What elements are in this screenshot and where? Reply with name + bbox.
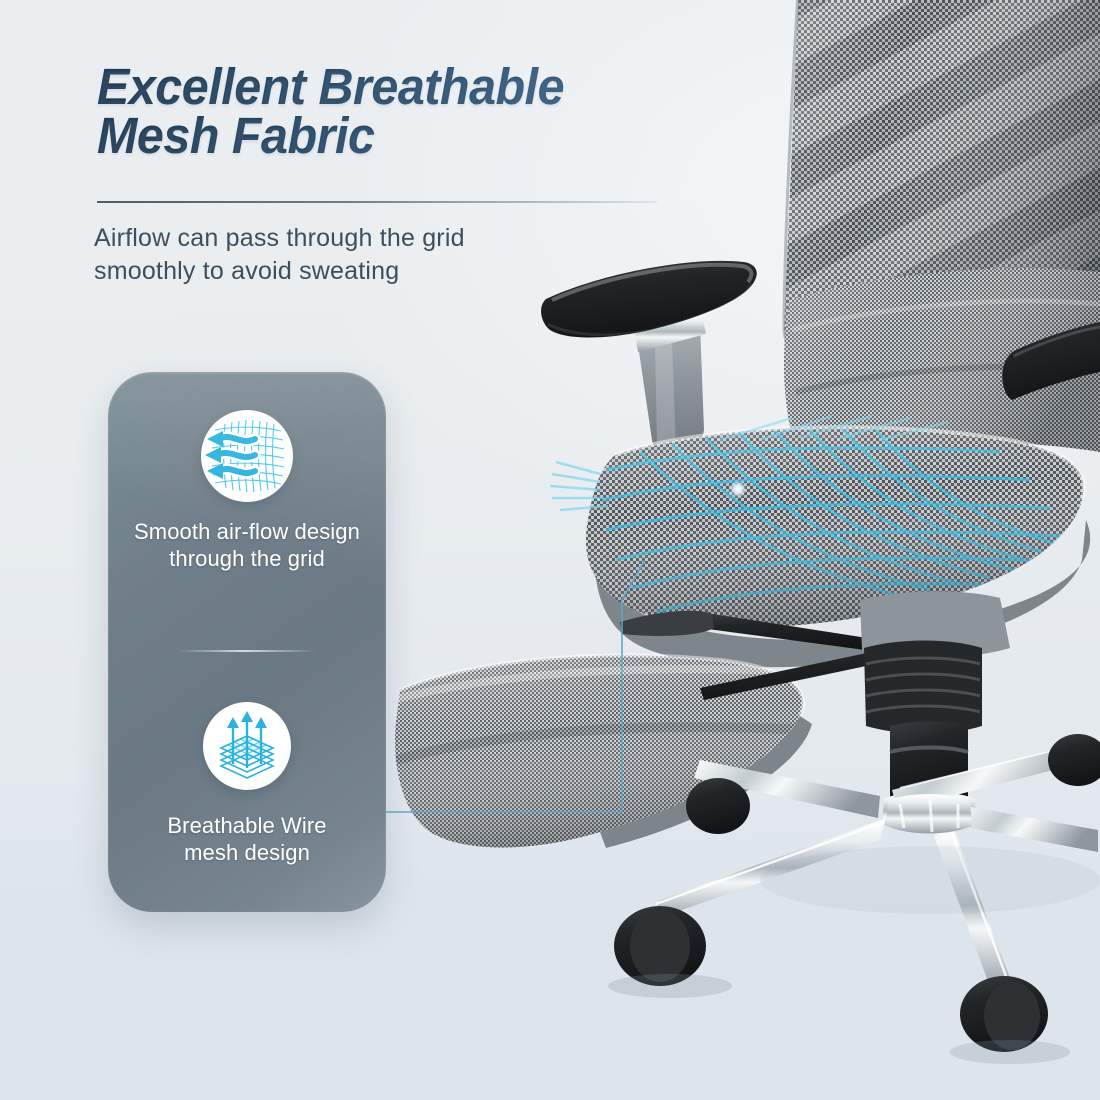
headline-line-1: Excellent Breathable [97,62,762,111]
headline-line-2: Mesh Fabric [97,111,762,160]
title-divider [97,201,657,203]
airflow-grid-icon [201,410,293,502]
feature-label-wire-mesh: Breathable Wire mesh design [108,812,386,866]
feature-label-line2: mesh design [184,840,310,865]
feature-item-airflow: Smooth air-flow design through the grid [108,410,386,572]
panel-divider [177,650,317,652]
feature-label-line1: Breathable Wire [167,813,326,838]
feature-label-airflow: Smooth air-flow design through the grid [108,518,386,572]
feature-item-wire-mesh: Breathable Wire mesh design [108,702,386,866]
wire-mesh-layers-icon [203,702,291,790]
header-block: Excellent Breathable Mesh Fabric [97,62,797,160]
feature-panel: Smooth air-flow design through the grid [108,372,386,912]
marketing-banner: Excellent Breathable Mesh Fabric Airflow… [0,0,1100,1100]
footrest-mesh [380,630,904,870]
feature-label-line2: through the grid [169,546,325,571]
subtitle-text: Airflow can pass through the grid smooth… [94,222,614,288]
airflow-glow-dot [729,481,747,499]
feature-label-line1: Smooth air-flow design [134,519,360,544]
